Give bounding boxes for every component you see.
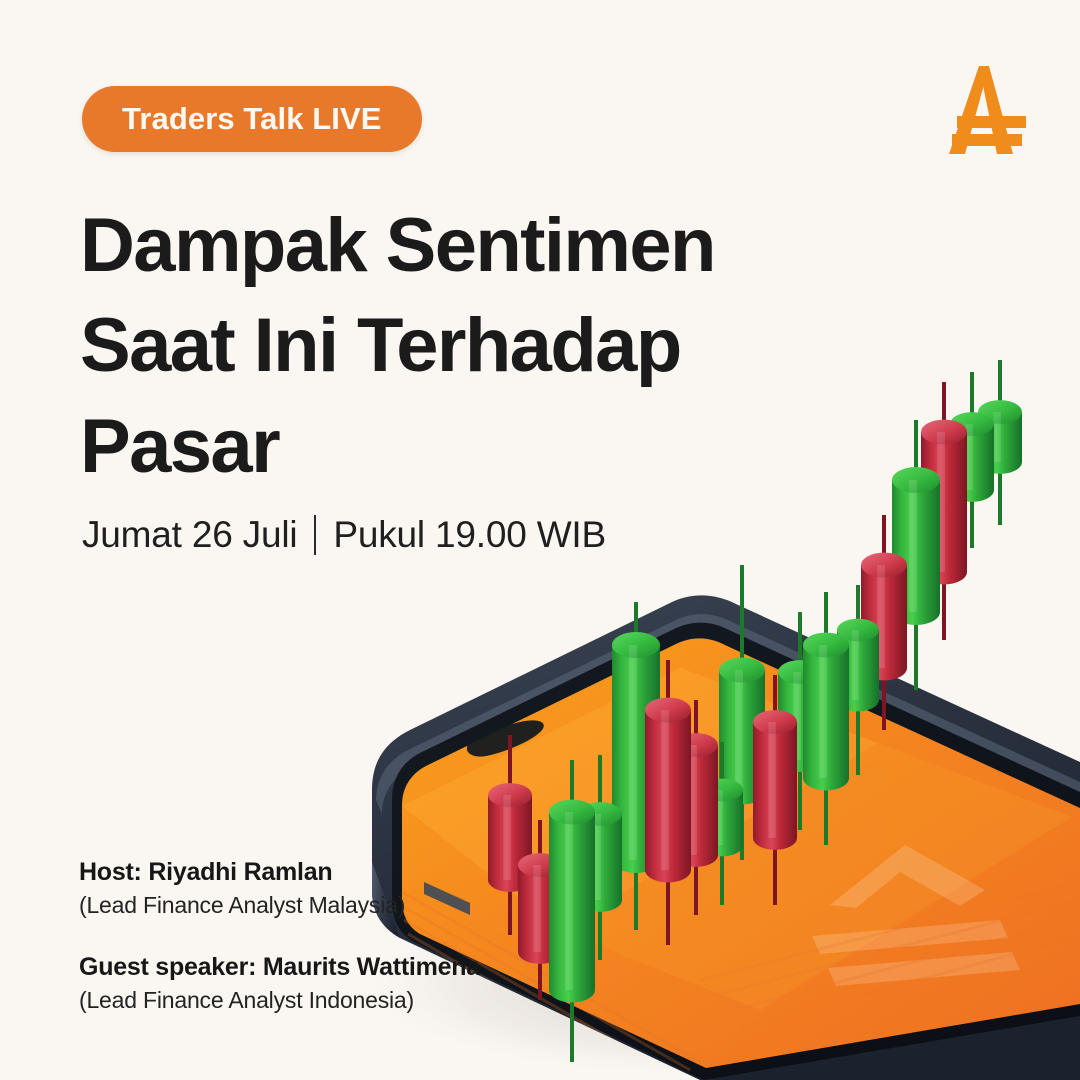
candle-bear bbox=[861, 515, 907, 730]
candle-bull bbox=[778, 612, 822, 830]
candle-bear bbox=[645, 660, 691, 945]
candle-bear bbox=[518, 820, 562, 1000]
candle-bear bbox=[753, 675, 797, 905]
candle-bull bbox=[978, 360, 1022, 525]
host-role: (Lead Finance Analyst Malaysia) bbox=[79, 892, 480, 919]
host-name: Host: Riyadhi Ramlan bbox=[79, 858, 480, 887]
candle-bull bbox=[701, 742, 743, 905]
event-time: Pukul 19.00 WIB bbox=[333, 514, 606, 556]
candle-bear bbox=[488, 735, 532, 935]
guest-name: Guest speaker: Maurits Wattimena bbox=[79, 953, 480, 982]
candle-bull bbox=[803, 592, 849, 845]
candle-bear bbox=[921, 382, 967, 640]
guest-role: (Lead Finance Analyst Indonesia) bbox=[79, 987, 480, 1014]
headline-line-3: Pasar bbox=[80, 397, 820, 497]
promo-poster: Traders Talk LIVE Dampak Sentimen Saat I… bbox=[0, 0, 1080, 1080]
headline-line-2: Saat Ini Terhadap bbox=[80, 296, 820, 396]
candle-bull bbox=[719, 565, 765, 860]
candle-bull bbox=[950, 372, 994, 548]
speaker-list: Host: Riyadhi Ramlan (Lead Finance Analy… bbox=[79, 858, 480, 1014]
event-date: Jumat 26 Juli bbox=[82, 514, 297, 556]
page-title: Dampak Sentimen Saat Ini Terhadap Pasar bbox=[80, 196, 820, 497]
speaker-guest: Guest speaker: Maurits Wattimena (Lead F… bbox=[79, 953, 480, 1014]
headline-line-1: Dampak Sentimen bbox=[80, 196, 820, 296]
schedule-separator bbox=[314, 515, 316, 555]
candle-bull bbox=[612, 602, 660, 930]
candle-bull bbox=[578, 755, 622, 960]
brand-logo bbox=[930, 58, 1034, 162]
candle-bear bbox=[674, 700, 718, 915]
live-badge[interactable]: Traders Talk LIVE bbox=[82, 86, 422, 152]
candle-bull bbox=[892, 420, 940, 690]
candle-bull bbox=[549, 760, 595, 1062]
candle-bull bbox=[837, 585, 879, 775]
live-badge-label: Traders Talk LIVE bbox=[122, 101, 382, 137]
speaker-host: Host: Riyadhi Ramlan (Lead Finance Analy… bbox=[79, 858, 480, 919]
event-schedule: Jumat 26 Juli Pukul 19.00 WIB bbox=[82, 514, 606, 556]
